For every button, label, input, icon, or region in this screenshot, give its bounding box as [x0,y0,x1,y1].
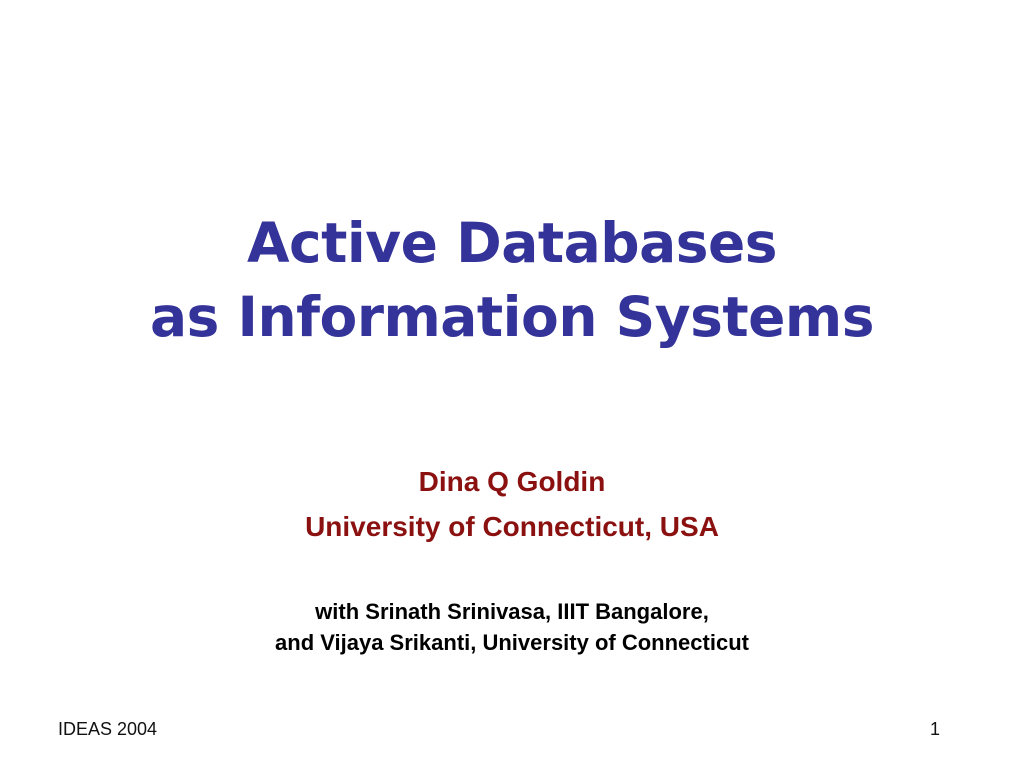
collaborators-block: with Srinath Srinivasa, IIIT Bangalore, … [0,596,1024,658]
title-line-2: as Information Systems [0,280,1024,354]
author-name: Dina Q Goldin [0,459,1024,504]
collaborator-line-2: and Vijaya Srikanti, University of Conne… [0,627,1024,658]
collaborator-line-1: with Srinath Srinivasa, IIIT Bangalore, [0,596,1024,627]
slide-title: Active Databases as Information Systems [0,206,1024,354]
slide-footer: IDEAS 2004 1 [0,718,1024,748]
footer-page-number: 1 [930,718,940,740]
title-line-1: Active Databases [0,206,1024,280]
author-affiliation: University of Connecticut, USA [0,504,1024,549]
author-block: Dina Q Goldin University of Connecticut,… [0,459,1024,549]
slide-canvas: Active Databases as Information Systems … [0,0,1024,768]
footer-conference-name: IDEAS 2004 [58,718,157,740]
